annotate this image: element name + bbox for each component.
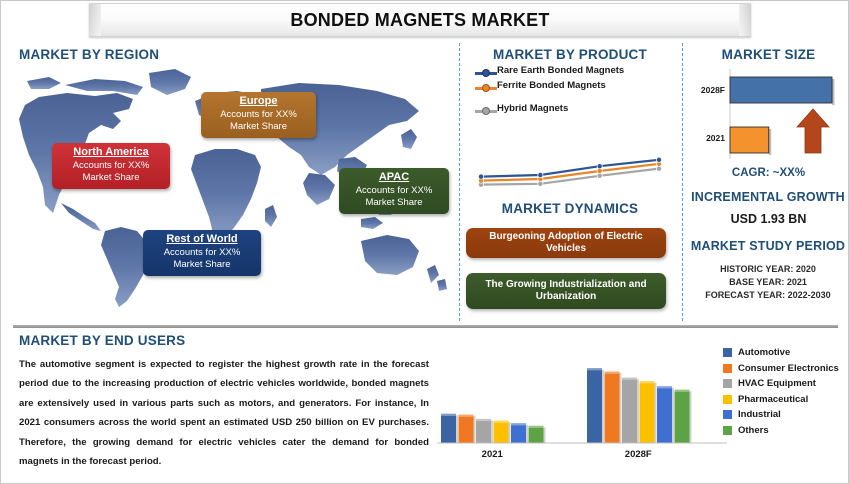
legend-swatch-icon (723, 426, 732, 435)
legend-label: Hybrid Magnets (497, 103, 568, 115)
callout-rest-of-world: Rest of World Accounts for XX% Market Sh… (143, 230, 261, 276)
legend-marker-icon (475, 105, 497, 117)
callout-line-2: Market Share (149, 259, 255, 271)
page-title: BONDED MAGNETS MARKET (290, 10, 549, 31)
callout-apac: APAC Accounts for XX% Market Share (339, 168, 449, 214)
ribbon-fold-right-icon (739, 4, 751, 36)
legend-label: Ferrite Bonded Magnets (497, 80, 606, 92)
divider-vertical-left (459, 43, 460, 321)
legend-item: Rare Earth Bonded Magnets (475, 65, 671, 79)
incremental-growth-heading: INCREMENTAL GROWTH (689, 190, 847, 204)
legend-item: Consumer Electronics (723, 363, 847, 374)
legend-label: Pharmaceutical (738, 394, 808, 405)
legend-label: HVAC Equipment (738, 378, 816, 389)
callout-north-america: North America Accounts for XX% Market Sh… (52, 143, 170, 189)
end-users-bar-chart: 2021 2028F (437, 351, 727, 461)
callout-line-2: Market Share (345, 197, 443, 209)
svg-text:2028F: 2028F (625, 449, 652, 460)
historic-year: HISTORIC YEAR: 2020 (689, 263, 847, 276)
callout-title: Rest of World (149, 233, 255, 246)
infographic-page: BONDED MAGNETS MARKET MARKET BY REGION (0, 0, 849, 484)
forecast-year: FORECAST YEAR: 2022-2030 (689, 289, 847, 302)
legend-item: HVAC Equipment (723, 378, 847, 389)
legend-swatch-icon (723, 379, 732, 388)
callout-title: North America (58, 146, 164, 159)
growth-arrow-icon (797, 109, 829, 153)
dynamics-driver-2: The Growing Industrialization and Urbani… (466, 273, 666, 309)
legend-label: Automotive (738, 347, 790, 358)
callout-title: APAC (345, 171, 443, 184)
legend-marker-icon (475, 82, 497, 94)
incremental-growth-value: USD 1.93 BN (691, 212, 846, 226)
ribbon-fold-left-icon (89, 4, 101, 36)
dynamics-driver-1: Burgeoning Adoption of Electric Vehicles (466, 228, 666, 258)
legend-swatch-icon (723, 410, 732, 419)
market-study-period-values: HISTORIC YEAR: 2020 BASE YEAR: 2021 FORE… (689, 263, 847, 302)
legend-item: Automotive (723, 347, 847, 358)
market-dynamics-heading: MARKET DYNAMICS (475, 201, 665, 216)
legend-label: Rare Earth Bonded Magnets (497, 65, 624, 77)
legend-item: Others (723, 425, 847, 436)
market-by-region-heading: MARKET BY REGION (19, 47, 159, 62)
end-users-legend: Automotive Consumer Electronics HVAC Equ… (723, 347, 847, 440)
product-chart-legend: Rare Earth Bonded Magnets Ferrite Bonded… (475, 65, 671, 118)
market-by-end-users-heading: MARKET BY END USERS (19, 333, 185, 348)
end-users-paragraph: The automotive segment is expected to re… (19, 355, 429, 471)
callout-line-2: Market Share (207, 121, 310, 133)
legend-swatch-icon (723, 364, 732, 373)
callout-line-1: Accounts for XX% (345, 185, 443, 197)
divider-vertical-right (682, 43, 683, 321)
legend-item: Pharmaceutical (723, 394, 847, 405)
callout-title: Europe (207, 95, 310, 108)
callout-line-1: Accounts for XX% (207, 109, 310, 121)
market-study-period-heading: MARKET STUDY PERIOD (689, 239, 847, 253)
base-year: BASE YEAR: 2021 (689, 276, 847, 289)
legend-label: Industrial (738, 409, 781, 420)
divider-horizontal (13, 325, 838, 328)
cagr-label: CAGR: ~XX% (691, 167, 846, 179)
callout-line-2: Market Share (58, 172, 164, 184)
product-line-chart (471, 151, 671, 199)
market-size-bar-chart (693, 67, 845, 165)
market-by-product-heading: MARKET BY PRODUCT (475, 47, 665, 62)
legend-item: Ferrite Bonded Magnets (475, 80, 671, 94)
legend-swatch-icon (723, 348, 732, 357)
title-banner: BONDED MAGNETS MARKET (89, 3, 751, 37)
callout-line-1: Accounts for XX% (58, 160, 164, 172)
callout-europe: Europe Accounts for XX% Market Share (201, 92, 316, 138)
legend-label: Others (738, 425, 769, 436)
legend-marker-icon (475, 67, 497, 79)
market-size-heading: MARKET SIZE (691, 47, 846, 62)
svg-text:2021: 2021 (482, 449, 504, 460)
callout-line-1: Accounts for XX% (149, 247, 255, 259)
legend-item: Hybrid Magnets (475, 103, 671, 117)
legend-item: Industrial (723, 409, 847, 420)
legend-label: Consumer Electronics (738, 363, 839, 374)
legend-swatch-icon (723, 395, 732, 404)
